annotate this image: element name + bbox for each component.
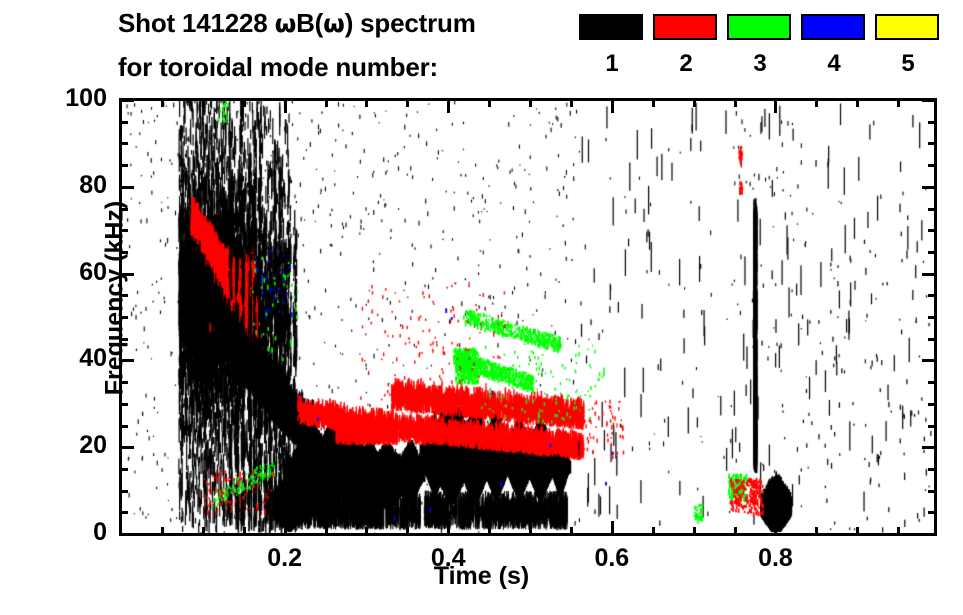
legend-label-4: 4 xyxy=(801,50,867,78)
legend-item-2: 2 xyxy=(653,14,719,40)
plot-area: 020406080100 0.20.40.60.8 Frequency (kHz… xyxy=(121,100,935,534)
x-minor-tick xyxy=(488,527,491,534)
y-minor-tick xyxy=(121,425,128,428)
legend-item-5: 5 xyxy=(875,14,941,40)
x-minor-tick-top xyxy=(406,100,409,107)
y-tick-label-80: 80 xyxy=(79,171,107,200)
y-minor-tick-right xyxy=(928,490,935,493)
legend-item-4: 4 xyxy=(801,14,867,40)
x-minor-tick-top xyxy=(570,100,573,107)
legend-label-1: 1 xyxy=(579,50,645,78)
legend-label-3: 3 xyxy=(727,50,793,78)
x-major-tick-top-0.8 xyxy=(774,100,777,113)
y-axis-title: Frequency (kHz) xyxy=(101,201,130,395)
y-tick-label-100: 100 xyxy=(65,84,107,113)
x-minor-tick xyxy=(652,527,655,534)
y-minor-tick-right xyxy=(928,403,935,406)
y-major-tick-right-20 xyxy=(922,446,935,449)
x-minor-tick-top xyxy=(734,100,737,107)
y-minor-tick xyxy=(121,468,128,471)
legend-swatch-5 xyxy=(875,14,939,40)
y-minor-tick-right xyxy=(928,511,935,514)
x-major-tick-top-0.2 xyxy=(284,100,287,113)
y-minor-tick-right xyxy=(928,294,935,297)
y-major-tick-right-60 xyxy=(922,273,935,276)
y-major-tick-80 xyxy=(121,186,134,189)
x-tick-label-0.8: 0.8 xyxy=(740,544,810,573)
y-major-tick-right-40 xyxy=(922,359,935,362)
x-minor-tick-top xyxy=(243,100,246,107)
x-tick-label-0.6: 0.6 xyxy=(577,544,647,573)
y-tick-label-0: 0 xyxy=(93,518,107,547)
y-major-tick-right-100 xyxy=(922,99,935,102)
y-minor-tick xyxy=(121,490,128,493)
x-minor-tick xyxy=(529,527,532,534)
y-major-tick-right-80 xyxy=(922,186,935,189)
x-major-tick-0.2 xyxy=(284,521,287,534)
x-minor-tick xyxy=(693,527,696,534)
x-minor-tick-top xyxy=(488,100,491,107)
x-major-tick-0.4 xyxy=(447,521,450,534)
x-minor-tick-top xyxy=(325,100,328,107)
title-text-pre: Shot 141228 xyxy=(118,8,275,38)
x-minor-tick-top xyxy=(652,100,655,107)
x-minor-tick-top xyxy=(529,100,532,107)
x-minor-tick-top xyxy=(897,100,900,107)
x-minor-tick xyxy=(365,527,368,534)
y-minor-tick xyxy=(121,164,128,167)
title-text-mid: B( xyxy=(296,8,323,38)
spectrogram-canvas xyxy=(121,100,935,534)
legend-item-3: 3 xyxy=(727,14,793,40)
x-major-tick-top-0.4 xyxy=(447,100,450,113)
x-minor-tick xyxy=(325,527,328,534)
x-major-tick-0.8 xyxy=(774,521,777,534)
x-minor-tick xyxy=(406,527,409,534)
y-minor-tick-right xyxy=(928,251,935,254)
y-major-tick-100 xyxy=(121,99,134,102)
y-minor-tick-right xyxy=(928,468,935,471)
figure-title-line-1: Shot 141228 ωB(ω) spectrum xyxy=(118,8,476,39)
y-major-tick-right-0 xyxy=(922,533,935,536)
y-major-tick-20 xyxy=(121,446,134,449)
y-minor-tick xyxy=(121,121,128,124)
y-minor-tick-right xyxy=(928,316,935,319)
x-minor-tick-top xyxy=(365,100,368,107)
x-minor-tick xyxy=(161,527,164,534)
y-minor-tick-right xyxy=(928,208,935,211)
x-minor-tick-top xyxy=(161,100,164,107)
x-tick-label-0.2: 0.2 xyxy=(250,544,320,573)
y-minor-tick-right xyxy=(928,425,935,428)
x-minor-tick xyxy=(243,527,246,534)
y-minor-tick-right xyxy=(928,338,935,341)
mode-number-legend: 12345 xyxy=(579,14,951,84)
x-minor-tick xyxy=(570,527,573,534)
legend-swatch-3 xyxy=(727,14,791,40)
x-minor-tick xyxy=(815,527,818,534)
x-minor-tick xyxy=(856,527,859,534)
y-minor-tick xyxy=(121,511,128,514)
spectrogram-figure: Shot 141228 ωB(ω) spectrum for toroidal … xyxy=(0,0,963,615)
x-minor-tick-top xyxy=(856,100,859,107)
figure-title-line-2: for toroidal mode number: xyxy=(118,52,438,83)
x-major-tick-top-0.6 xyxy=(611,100,614,113)
y-minor-tick-right xyxy=(928,229,935,232)
x-minor-tick-top xyxy=(815,100,818,107)
title-text-post: ) spectrum xyxy=(345,8,476,38)
x-minor-tick xyxy=(734,527,737,534)
x-minor-tick-top xyxy=(693,100,696,107)
omega-symbol-1: ω xyxy=(275,9,297,38)
y-minor-tick-right xyxy=(928,142,935,145)
y-tick-label-20: 20 xyxy=(79,431,107,460)
legend-swatch-1 xyxy=(579,14,643,40)
legend-item-1: 1 xyxy=(579,14,645,40)
y-minor-tick xyxy=(121,403,128,406)
legend-label-5: 5 xyxy=(875,50,941,78)
x-minor-tick xyxy=(202,527,205,534)
omega-symbol-2: ω xyxy=(323,9,345,38)
x-minor-tick xyxy=(897,527,900,534)
y-minor-tick xyxy=(121,142,128,145)
y-minor-tick-right xyxy=(928,121,935,124)
legend-swatch-4 xyxy=(801,14,865,40)
legend-label-2: 2 xyxy=(653,50,719,78)
y-minor-tick-right xyxy=(928,164,935,167)
y-major-tick-0 xyxy=(121,533,134,536)
x-major-tick-0.6 xyxy=(611,521,614,534)
y-minor-tick-right xyxy=(928,381,935,384)
legend-swatch-2 xyxy=(653,14,717,40)
x-axis-title: Time (s) xyxy=(434,562,529,591)
x-minor-tick-top xyxy=(202,100,205,107)
